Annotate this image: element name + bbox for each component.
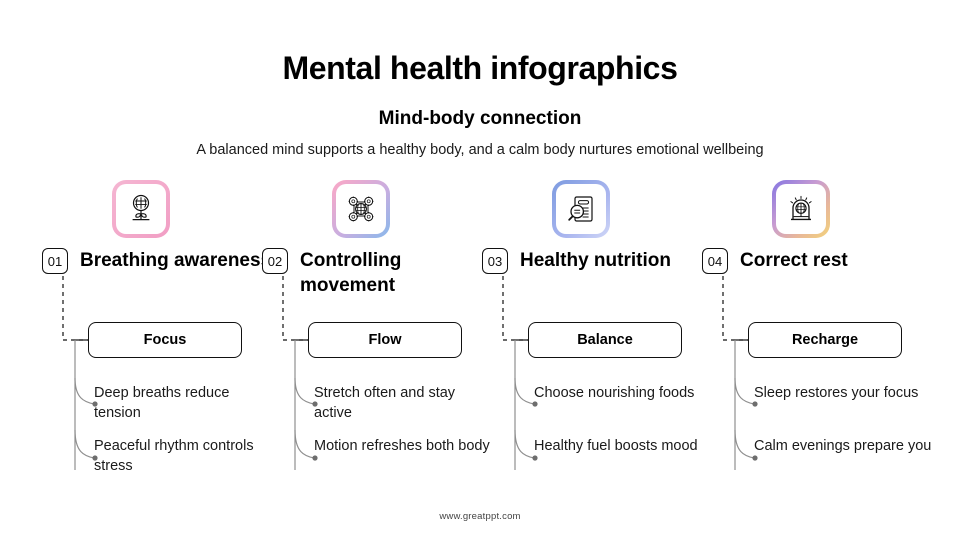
- step-badge-2: 02: [262, 248, 288, 274]
- column-2: 02 Controlling movement Flow Stretch oft…: [260, 0, 500, 540]
- column-4: 04 Correct rest Recharge Sleep restores …: [700, 0, 940, 540]
- infographic-slide: Mental health infographics Mind-body con…: [0, 0, 960, 540]
- step-label-2: Flow: [308, 322, 462, 358]
- step-heading-1: Breathing awareness: [80, 248, 280, 273]
- step-bullet-2-2: Motion refreshes both body: [314, 437, 494, 457]
- step-bullet-3-1: Choose nourishing foods: [534, 384, 714, 404]
- step-label-4: Recharge: [748, 322, 902, 358]
- step-heading-2: Controlling movement: [300, 248, 500, 298]
- step-heading-4: Correct rest: [740, 248, 940, 273]
- step-badge-4: 04: [702, 248, 728, 274]
- column-1: 01 Breathing awareness Focus Deep breath…: [40, 0, 280, 540]
- step-bullet-1-2: Peaceful rhythm controls stress: [94, 437, 274, 476]
- column-3: 03 Healthy nutrition Balance Choose nour…: [480, 0, 720, 540]
- brain-gears-icon: [336, 184, 386, 234]
- footer-url: www.greatppt.com: [0, 511, 960, 522]
- step-bullet-2-1: Stretch often and stay active: [314, 384, 494, 423]
- brain-lamp-icon: [776, 184, 826, 234]
- step-label-3: Balance: [528, 322, 682, 358]
- icon-tile-4: [772, 180, 830, 238]
- step-heading-3: Healthy nutrition: [520, 248, 720, 273]
- step-bullet-4-1: Sleep restores your focus: [754, 384, 934, 404]
- step-bullet-3-2: Healthy fuel boosts mood: [534, 437, 714, 457]
- step-bullet-1-1: Deep breaths reduce tension: [94, 384, 274, 423]
- icon-tile-1: [112, 180, 170, 238]
- document-magnifier-icon: [556, 184, 606, 234]
- step-badge-3: 03: [482, 248, 508, 274]
- step-bullet-4-2: Calm evenings prepare you: [754, 437, 934, 457]
- icon-tile-3: [552, 180, 610, 238]
- step-badge-1: 01: [42, 248, 68, 274]
- brain-flower-icon: [116, 184, 166, 234]
- icon-tile-2: [332, 180, 390, 238]
- step-label-1: Focus: [88, 322, 242, 358]
